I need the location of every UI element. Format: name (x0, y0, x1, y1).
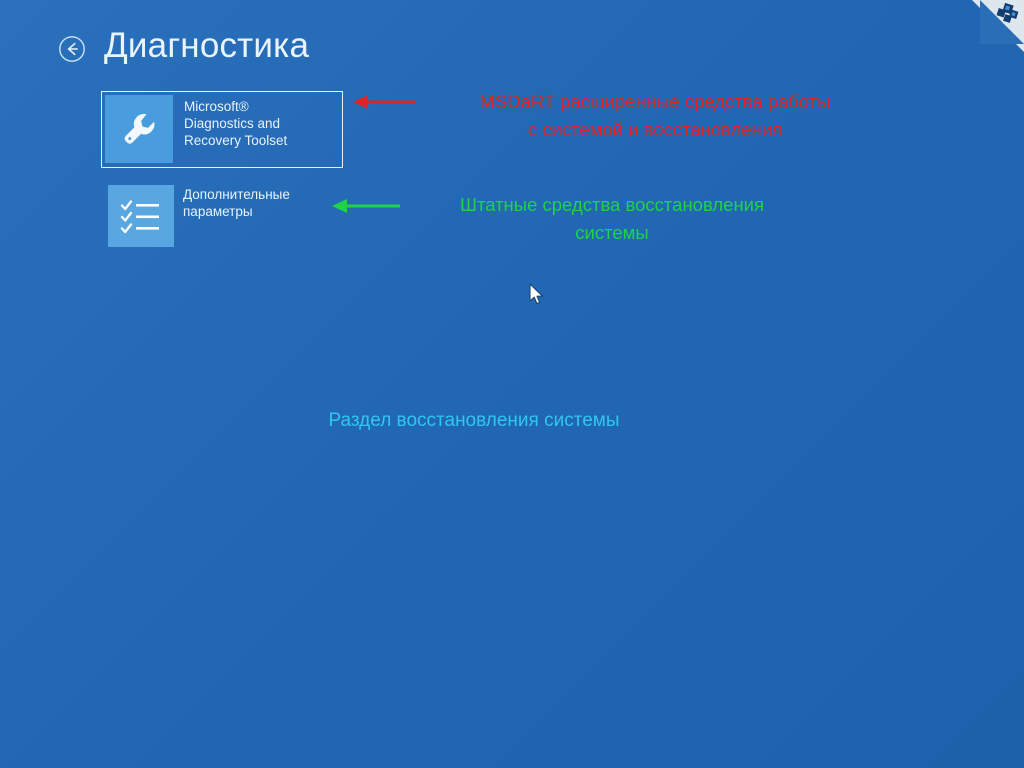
annotation-recovery-partition: Раздел восстановления системы (274, 408, 674, 434)
mouse-pointer-icon (529, 283, 545, 307)
tile-msdart[interactable]: Microsoft® Diagnostics and Recovery Tool… (101, 91, 343, 168)
back-arrow-icon (58, 35, 86, 63)
checklist-icon (108, 185, 174, 247)
annotation-builtin-tools: Штатные средства восстановления системы (402, 191, 822, 247)
page-curl-icon (995, 2, 1021, 26)
back-button[interactable] (58, 35, 86, 63)
recovery-environment-screen: Диагностика Microsoft® Diagnostics and R… (0, 0, 1024, 768)
page-title: Диагностика (104, 26, 309, 66)
tile-msdart-label: Microsoft® Diagnostics and Recovery Tool… (173, 95, 339, 149)
tile-advanced-options[interactable]: Дополнительные параметры (104, 181, 344, 249)
annotation-msdart: MSDaRT расширенные средства работы с сис… (420, 88, 890, 144)
screen-header: Диагностика (0, 0, 1024, 90)
page-curl-corner (972, 0, 1024, 52)
left-arrow-red-icon (352, 92, 418, 117)
wrench-icon (105, 95, 173, 163)
tile-advanced-options-label: Дополнительные параметры (174, 185, 340, 220)
